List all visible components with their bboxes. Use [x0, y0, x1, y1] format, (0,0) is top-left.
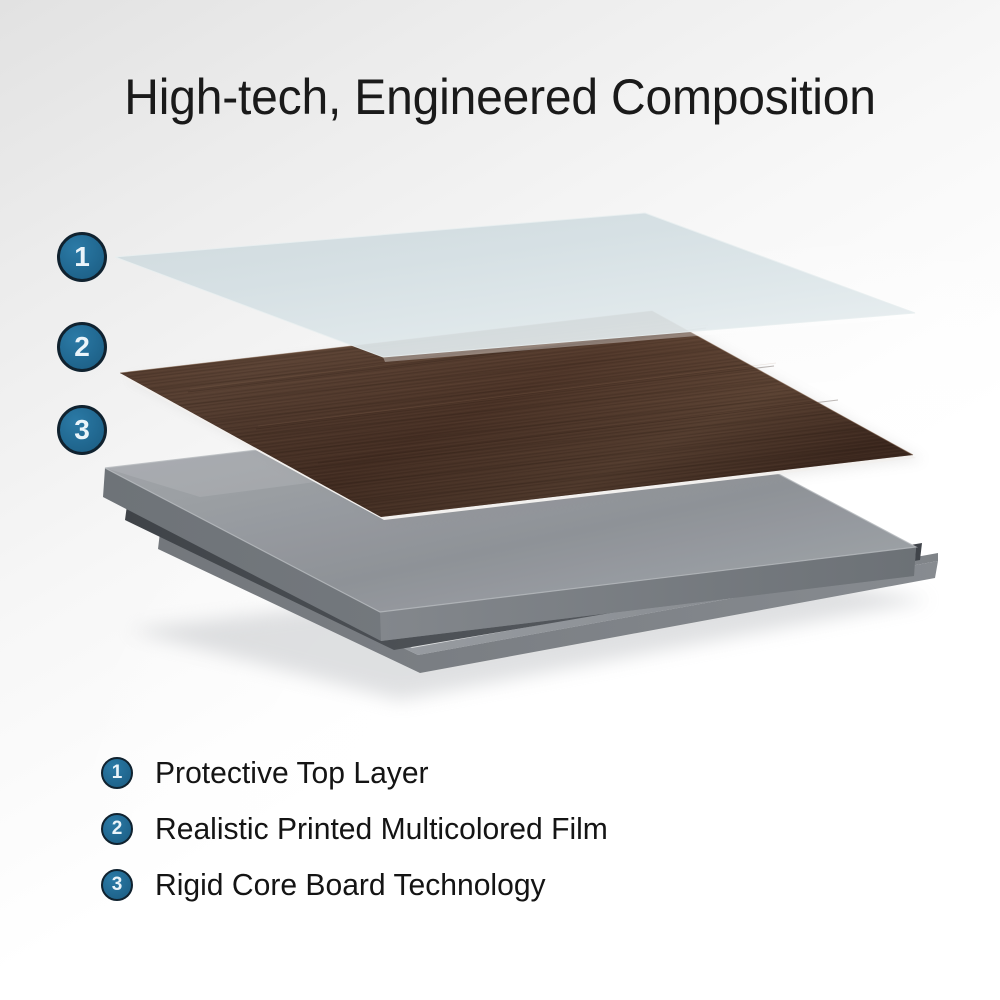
exploded-layer-diagram: 1 2 3 — [0, 0, 1000, 720]
legend-item-2[interactable]: 2 Realistic Printed Multicolored Film — [101, 801, 901, 857]
layer-stack-illustration — [0, 0, 1000, 720]
legend-badge-1: 1 — [101, 757, 133, 789]
legend: 1 Protective Top Layer 2 Realistic Print… — [101, 745, 901, 913]
legend-label-2: Realistic Printed Multicolored Film — [155, 811, 608, 847]
legend-item-1[interactable]: 1 Protective Top Layer — [101, 745, 901, 801]
legend-badge-3: 3 — [101, 869, 133, 901]
legend-item-3[interactable]: 3 Rigid Core Board Technology — [101, 857, 901, 913]
callout-badge-3[interactable]: 3 — [57, 405, 107, 455]
callout-badge-1[interactable]: 1 — [57, 232, 107, 282]
protective-top-layer — [115, 213, 915, 362]
legend-label-1: Protective Top Layer — [155, 755, 429, 791]
top-layer-face — [115, 213, 915, 357]
legend-badge-2: 2 — [101, 813, 133, 845]
legend-label-3: Rigid Core Board Technology — [155, 867, 546, 903]
infographic-panel: High-tech, Engineered Composition — [0, 0, 1000, 1000]
callout-badge-2[interactable]: 2 — [57, 322, 107, 372]
